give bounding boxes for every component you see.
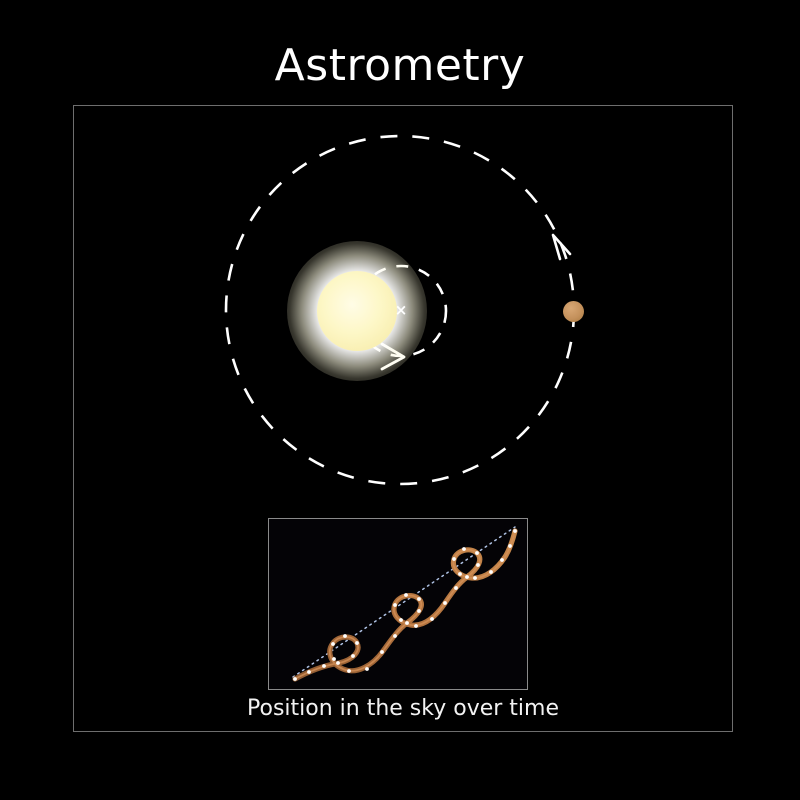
sky-path-plot: [269, 519, 527, 689]
figure-canvas: Astrometry ×: [0, 0, 800, 800]
star-body: [317, 271, 397, 351]
inset-caption: Position in the sky over time: [73, 695, 733, 723]
barycenter-marker: ×: [393, 300, 409, 320]
planet-body: [563, 301, 584, 322]
sky-path-inset: [268, 518, 528, 690]
page-title: Astrometry: [0, 40, 800, 92]
